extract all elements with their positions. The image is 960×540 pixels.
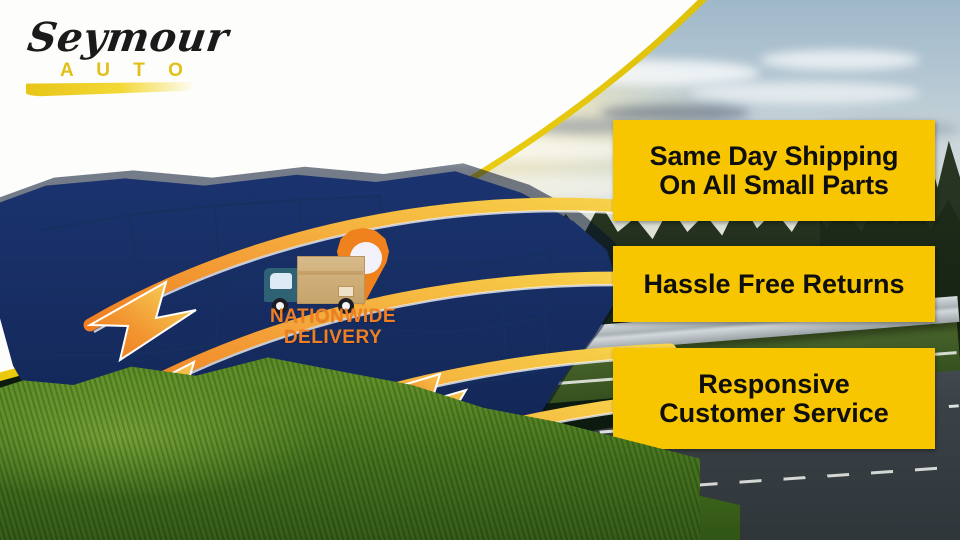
nationwide-delivery-text: NATIONWIDE DELIVERY: [258, 306, 408, 349]
truck-box-stripe: [297, 271, 363, 275]
delivery-truck-icon: [264, 252, 374, 314]
truck-box-label: [338, 286, 354, 297]
feature-banner-responsive-customer-service[interactable]: Responsive Customer Service: [613, 348, 935, 449]
banner-line: On All Small Parts: [650, 171, 899, 199]
banner-line: Hassle Free Returns: [643, 270, 904, 298]
promo-banner-image: Seymour A U T O: [0, 0, 960, 540]
logo-swish-icon: [26, 82, 196, 98]
brand-logo[interactable]: Seymour A U T O: [18, 10, 218, 98]
delivery-label-line2: DELIVERY: [284, 327, 382, 348]
feature-banner-same-day-shipping[interactable]: Same Day Shipping On All Small Parts: [613, 120, 935, 221]
banner-line: Same Day Shipping: [650, 142, 899, 170]
cloud: [690, 82, 920, 104]
delivery-label-line1: NATIONWIDE: [270, 306, 396, 327]
banner-line: Responsive: [659, 370, 889, 398]
feature-banner-hassle-free-returns[interactable]: Hassle Free Returns: [613, 246, 935, 322]
brand-name: Seymour: [25, 14, 232, 61]
cloud: [760, 50, 920, 70]
banner-line: Customer Service: [659, 399, 889, 427]
brand-sub: A U T O: [60, 60, 192, 82]
truck-window: [270, 273, 292, 289]
truck-cargo-box: [297, 256, 365, 304]
nationwide-delivery-badge: NATIONWIDE DELIVERY: [258, 228, 408, 358]
